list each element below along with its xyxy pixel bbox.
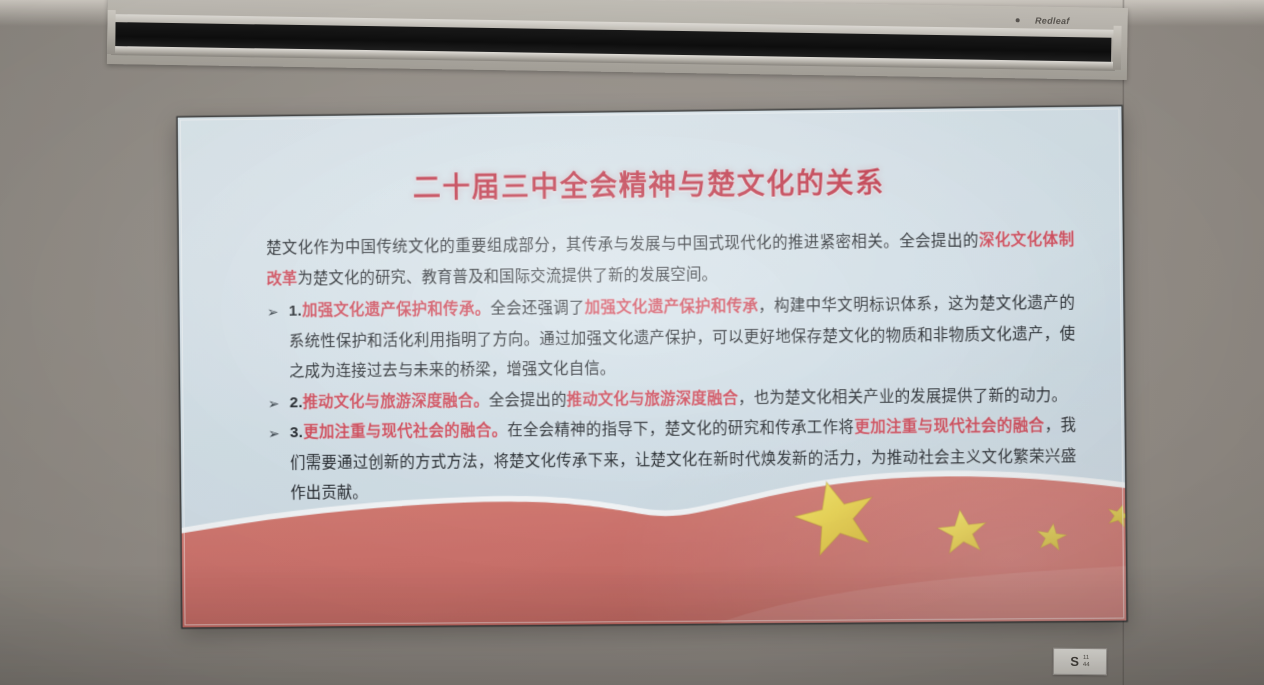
wall-plate: S 11 44	[1053, 648, 1107, 676]
housing-endcap-right	[1113, 26, 1122, 70]
text-run: 1.	[289, 303, 302, 320]
slide-title: 二十届三中全会精神与楚文化的关系	[178, 159, 1122, 210]
text-run: 在全会精神的指导下，楚文化的研究和传承工作将	[507, 419, 854, 439]
text-run: 为楚文化的研究、教育普及和国际交流提供了新的发展空间。	[297, 266, 717, 287]
wall-plate-code: 11 44	[1083, 655, 1090, 668]
slide-canvas: 二十届三中全会精神与楚文化的关系 楚文化作为中国传统文化的重要组成部分，其传承与…	[178, 106, 1127, 627]
slide-bullet-text-2: 2.推动文化与旅游深度融合。全会提出的推动文化与旅游深度融合，也为楚文化相关产业…	[290, 387, 1068, 411]
photo-scene: Redleaf	[0, 0, 1264, 685]
bullet-arrow-icon: ➢	[268, 418, 280, 449]
text-run: 全会还强调了	[490, 300, 585, 318]
highlighted-run: 加强文化遗产保护和传承	[585, 298, 759, 317]
text-run: 2.	[290, 394, 303, 411]
slide-paragraph-intro: 楚文化作为中国传统文化的重要组成部分，其传承与发展与中国式现代化的推进紧密相关。…	[266, 225, 1075, 295]
highlighted-run: 推动文化与旅游深度融合。	[303, 392, 489, 411]
text-run: 全会提出的	[489, 391, 567, 409]
highlighted-run: 加强文化遗产保护和传承。	[302, 301, 491, 320]
housing-endcap-left	[107, 10, 116, 54]
highlighted-run: 更加注重与现代社会的融合	[854, 417, 1044, 436]
brand-dot-icon	[1016, 18, 1020, 22]
slide-bullet-text-3: 3.更加注重与现代社会的融合。在全会精神的指导下，楚文化的研究和传承工作将更加注…	[290, 417, 1077, 502]
text-run: 楚文化作为中国传统文化的重要组成部分，其传承与发展与中国式现代化的推进紧密相关。…	[266, 232, 979, 257]
slide-bullet-item-1: ➢ 1.加强文化遗产保护和传承。全会还强调了加强文化遗产保护和传承，构建中华文明…	[267, 289, 1076, 388]
projector-brand-label: Redleaf	[1035, 16, 1070, 27]
bullet-arrow-icon: ➢	[267, 297, 279, 328]
text-run: ，也为楚文化相关产业的发展提供了新的动力。	[738, 387, 1067, 407]
highlighted-run: 更加注重与现代社会的融合。	[303, 422, 507, 441]
highlighted-run: 推动文化与旅游深度融合	[567, 390, 739, 409]
slide-bullet-item-3: ➢ 3.更加注重与现代社会的融合。在全会精神的指导下，楚文化的研究和传承工作将更…	[268, 411, 1077, 510]
projected-slide: 二十届三中全会精神与楚文化的关系 楚文化作为中国传统文化的重要组成部分，其传承与…	[178, 106, 1127, 627]
slide-body: 楚文化作为中国传统文化的重要组成部分，其传承与发展与中国式现代化的推进紧密相关。…	[266, 225, 1077, 509]
bullet-arrow-icon: ➢	[268, 388, 280, 419]
slide-bullet-text-1: 1.加强文化遗产保护和传承。全会还强调了加强文化遗产保护和传承，构建中华文明标识…	[289, 295, 1076, 381]
wall-plate-logo: S	[1070, 655, 1079, 668]
text-run: 3.	[290, 424, 303, 441]
